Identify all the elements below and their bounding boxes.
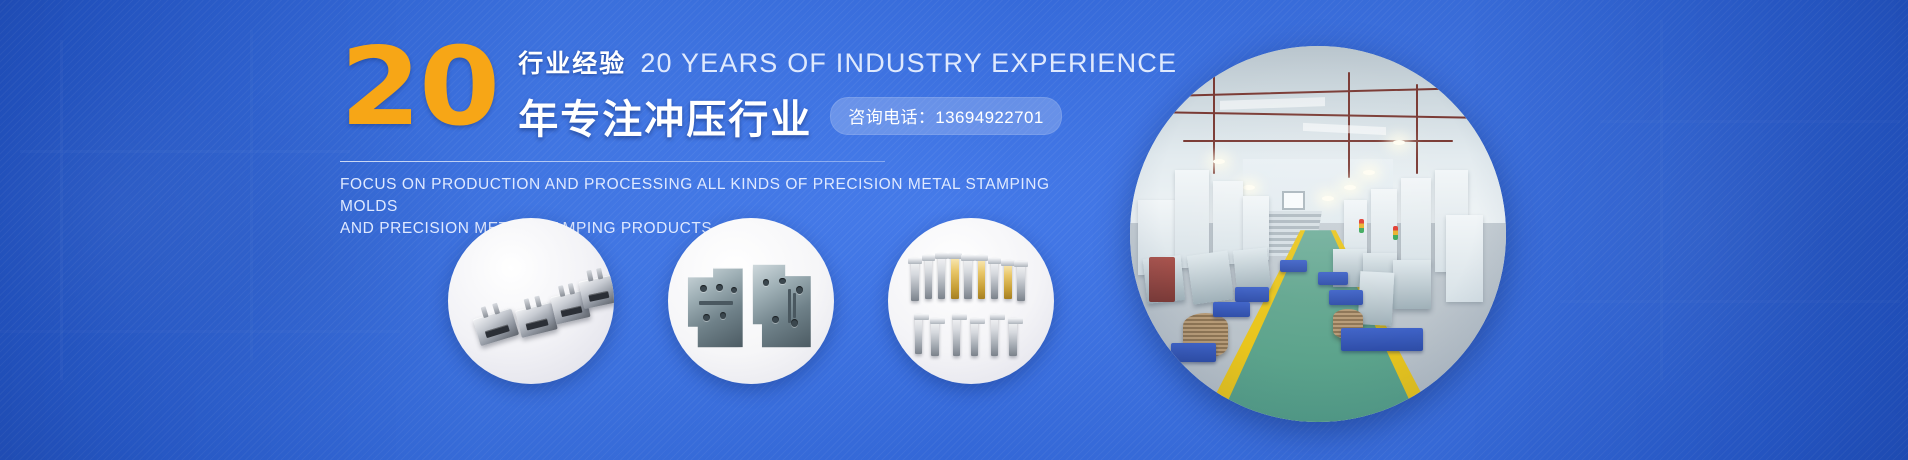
terminal-pin-gold — [1004, 260, 1011, 300]
headline-text-group: 行业经验 20 YEARS OF INDUSTRY EXPERIENCE 年专注… — [518, 36, 1177, 145]
cn-main-headline: 年专注冲压行业 — [518, 87, 812, 145]
terminal-pin — [964, 255, 971, 300]
terminal-pin — [925, 255, 932, 300]
cn-experience-label: 行业经验 — [518, 44, 626, 80]
connector-part — [473, 307, 519, 346]
headline-block: 20 行业经验 20 YEARS OF INDUSTRY EXPERIENCE … — [340, 36, 1100, 240]
terminal-pin — [991, 314, 998, 356]
headline-line-2: 年专注冲压行业 咨询电话：13694922701 — [518, 87, 1177, 145]
headline-divider — [340, 161, 885, 162]
en-headline: 20 YEARS OF INDUSTRY EXPERIENCE — [640, 48, 1177, 79]
promo-banner: 20 行业经验 20 YEARS OF INDUSTRY EXPERIENCE … — [0, 0, 1908, 460]
terminal-pin — [1009, 318, 1016, 356]
terminal-pin — [971, 318, 978, 356]
product-circle-metal-terminals — [888, 218, 1054, 384]
terminal-pin — [938, 253, 945, 299]
product-circle-stamping-dies — [668, 218, 834, 384]
terminal-pin — [953, 314, 960, 356]
headline-row: 20 行业经验 20 YEARS OF INDUSTRY EXPERIENCE … — [340, 36, 1100, 145]
terminal-pin-gold — [978, 255, 985, 300]
factory-workshop-photo — [1130, 46, 1506, 422]
terminal-pin — [1017, 261, 1024, 301]
product-circle-usb-connectors — [448, 218, 614, 384]
connector-part — [578, 275, 614, 310]
subcopy-line-1: FOCUS ON PRODUCTION AND PROCESSING ALL K… — [340, 174, 1060, 218]
connector-part — [515, 302, 557, 338]
mold-die-right — [753, 264, 811, 347]
phone-badge[interactable]: 咨询电话：13694922701 — [830, 97, 1061, 135]
terminal-pin — [911, 258, 918, 301]
years-number: 20 — [340, 38, 498, 137]
terminal-pin — [915, 314, 922, 354]
terminal-pin — [931, 318, 938, 356]
headline-line-1: 行业经验 20 YEARS OF INDUSTRY EXPERIENCE — [518, 44, 1177, 80]
mold-die-left — [688, 268, 743, 348]
terminal-pin-gold — [951, 253, 958, 299]
photo-shading — [1130, 46, 1506, 422]
terminal-pin — [991, 258, 998, 300]
